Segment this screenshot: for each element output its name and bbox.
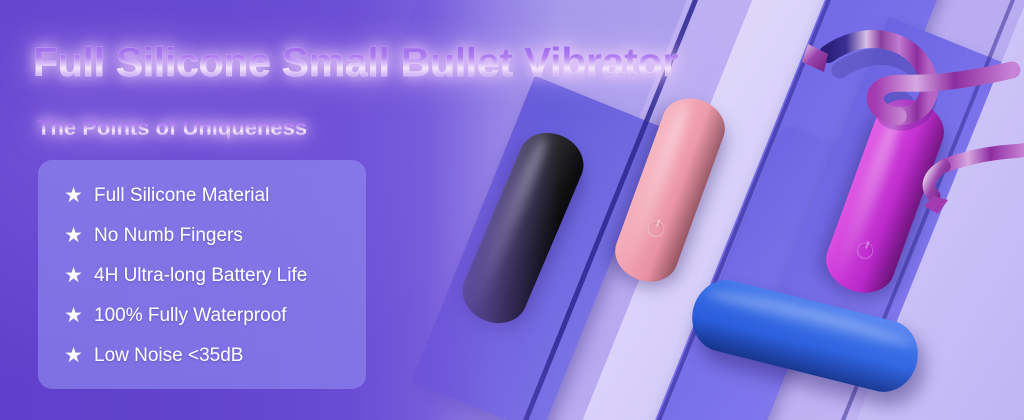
subtitle: The Points of Uniqueness (37, 115, 307, 141)
list-item: ★ 4H Ultra-long Battery Life (52, 256, 352, 295)
list-item-label: No Numb Fingers (94, 225, 243, 247)
star-icon: ★ (64, 186, 83, 205)
list-item-label: 4H Ultra-long Battery Life (94, 265, 307, 287)
list-item-label: Low Noise <35dB (94, 345, 243, 367)
feature-list-panel: ★ Full Silicone Material ★ No Numb Finge… (38, 160, 366, 389)
page-title: Full Silicone Small Bullet Vibrator (33, 39, 678, 86)
list-item-label: 100% Fully Waterproof (94, 305, 287, 327)
list-item-label: Full Silicone Material (94, 185, 269, 207)
star-icon: ★ (64, 266, 83, 285)
product-promo-banner: Full Silicone Small Bullet Vibrator The … (0, 0, 1024, 420)
star-icon: ★ (64, 226, 83, 245)
list-item: ★ Low Noise <35dB (52, 336, 352, 375)
list-item: ★ No Numb Fingers (52, 216, 352, 255)
star-icon: ★ (64, 346, 83, 365)
list-item: ★ 100% Fully Waterproof (52, 296, 352, 335)
star-icon: ★ (64, 306, 83, 325)
list-item: ★ Full Silicone Material (52, 176, 352, 215)
